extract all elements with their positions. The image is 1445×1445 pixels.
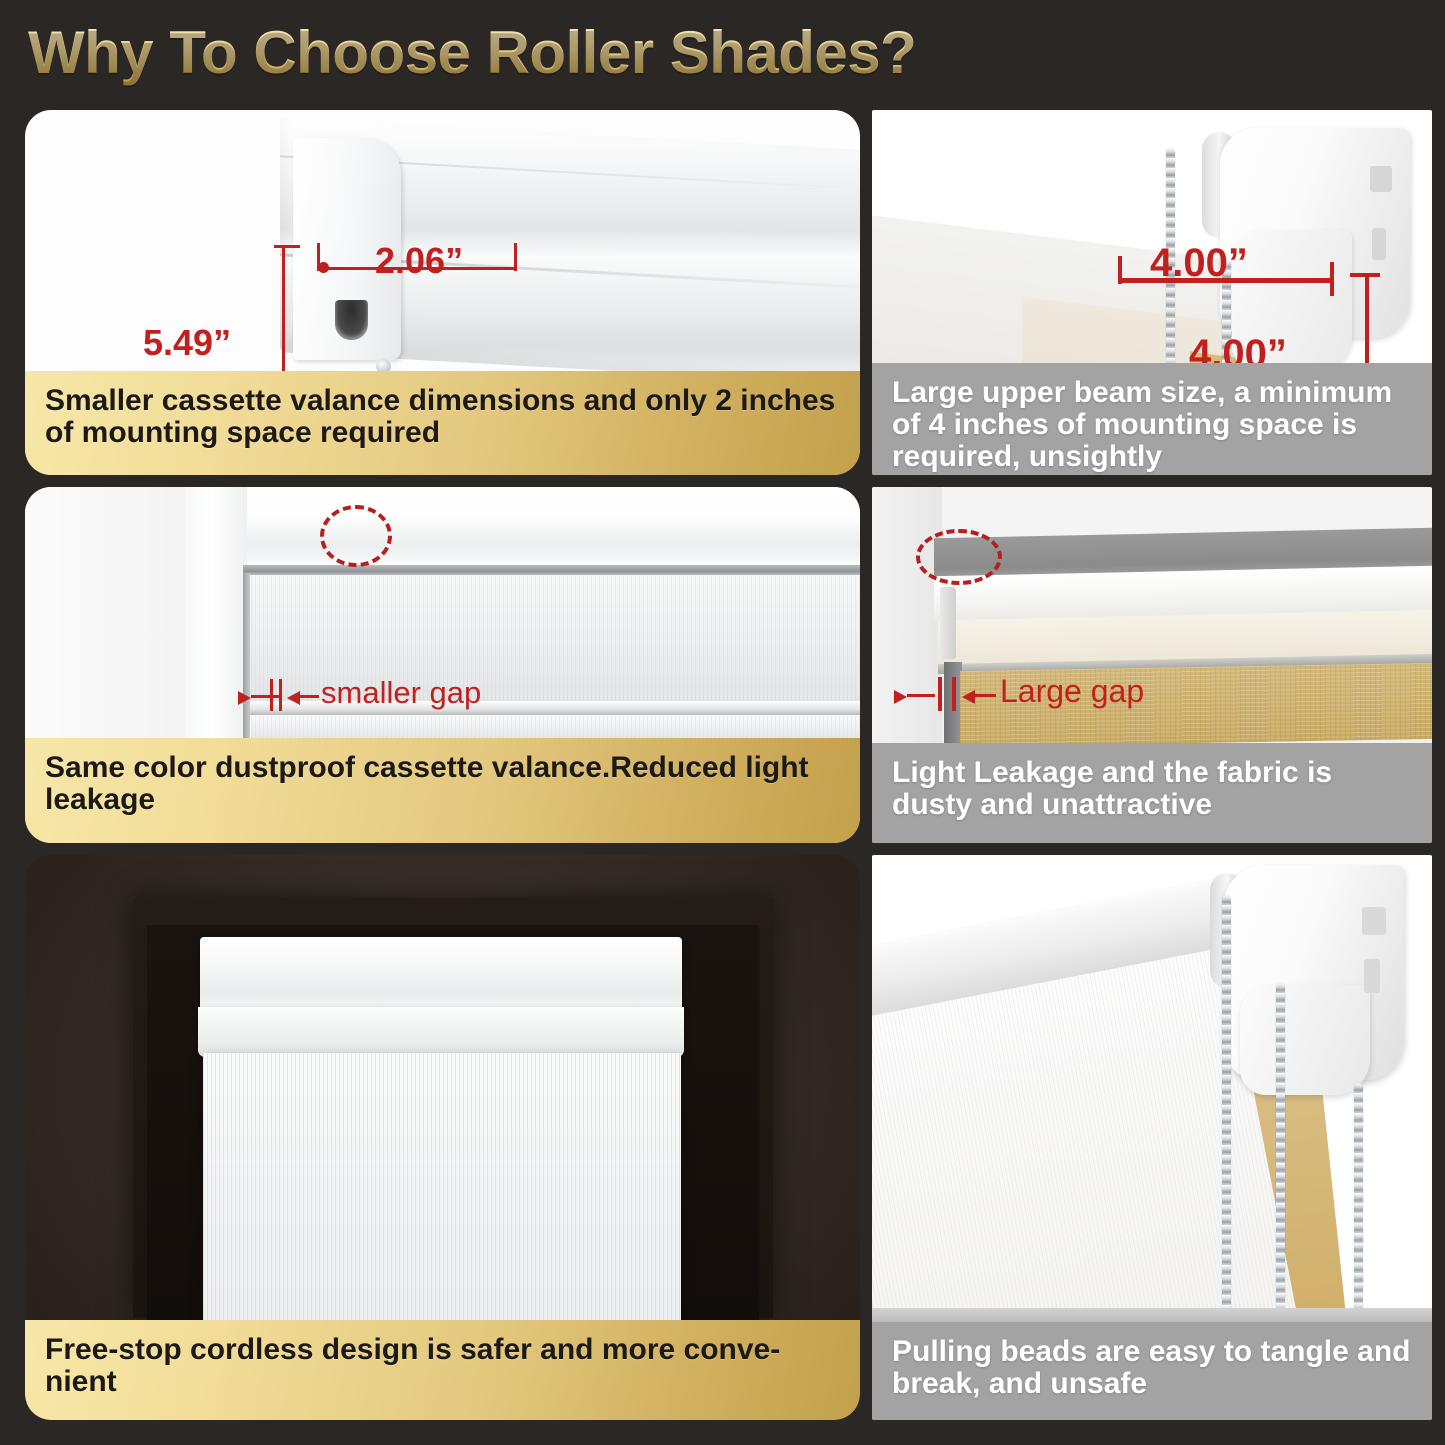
gap-tick-left	[270, 679, 273, 711]
cassette-valance-lower	[198, 1007, 684, 1057]
gap-arrow-left-stem	[907, 694, 935, 697]
page-title: Why To Choose Roller Shades?	[28, 18, 916, 87]
panel-3-caption: Same color dustproof cassette valance.Re…	[25, 738, 860, 843]
cassette-slot	[335, 300, 368, 340]
cassette-valance	[200, 937, 682, 1013]
bracket-notch-1	[1362, 907, 1386, 935]
width-dimension-tick-left	[1118, 256, 1122, 284]
panel-smaller-cassette: 2.06” 5.49” Smaller cassette valance dim…	[25, 110, 860, 475]
height-dimension-tick-top	[274, 245, 300, 248]
width-dimension-tick-right	[514, 243, 517, 271]
panel-dustproof-valance: smaller gap Same color dustproof cassett…	[25, 487, 860, 843]
gap-arrow-right-stem	[297, 695, 319, 698]
wall-surface	[25, 487, 200, 747]
gap-arrow-left-icon	[238, 691, 251, 705]
width-dimension-tick-right	[1330, 262, 1334, 296]
panel-pulling-beads: Pulling beads are easy to tangle and bre…	[872, 855, 1432, 1420]
highlight-circle-icon	[320, 505, 392, 567]
gap-arrow-left-stem	[251, 695, 279, 698]
panel-cordless-design: Free-stop cordless design is safer and m…	[25, 855, 860, 1420]
panel-5-caption: Free-stop cordless design is safer and m…	[25, 1320, 860, 1420]
panel-4-caption: Light Leakage and the fabric is dusty an…	[872, 743, 1432, 843]
floor-line	[872, 1308, 1432, 1322]
bracket-notch-2	[1364, 959, 1380, 993]
infographic-page: Why To Choose Roller Shades? 2.06” 5.49”…	[0, 0, 1445, 1445]
bracket-clip	[940, 587, 956, 659]
panel-6-caption: Pulling beads are easy to tangle and bre…	[872, 1322, 1432, 1420]
bracket-notch-2	[1372, 228, 1386, 260]
window-frame-left	[185, 487, 247, 747]
shade-left-edge	[243, 573, 250, 738]
width-dimension-tick-left	[317, 243, 320, 271]
panel-2-caption: Large upper beam size, a minimum of 4 in…	[872, 363, 1432, 475]
gap-arrow-right-stem	[972, 694, 996, 697]
height-dimension-label: 5.49”	[143, 322, 231, 364]
gap-arrow-right-icon	[962, 690, 975, 704]
panel-large-beam: 4.00” 4.00” Large upper beam size, a min…	[872, 110, 1432, 475]
gap-tick-right	[279, 679, 282, 711]
gap-label: smaller gap	[321, 675, 481, 711]
gap-tick-left	[938, 677, 942, 711]
gap-arrow-left-icon	[894, 690, 907, 704]
gap-label: Large gap	[1000, 673, 1144, 710]
gap-tick-right	[952, 677, 956, 711]
panel-light-leakage: Large gap Light Leakage and the fabric i…	[872, 487, 1432, 843]
height-dimension-tick-top	[1350, 273, 1380, 277]
highlight-circle-icon	[916, 529, 1002, 585]
gap-arrow-right-icon	[287, 691, 300, 705]
width-dimension-label: 4.00”	[1150, 241, 1248, 286]
panel-1-caption: Smaller cassette valance dimensions and …	[25, 371, 860, 475]
width-dimension-label: 2.06”	[375, 240, 463, 282]
bracket-notch-1	[1370, 166, 1392, 192]
mounting-bracket-lower	[1240, 985, 1370, 1095]
window-frame-top	[185, 487, 860, 571]
shade-lower-section	[251, 715, 860, 738]
